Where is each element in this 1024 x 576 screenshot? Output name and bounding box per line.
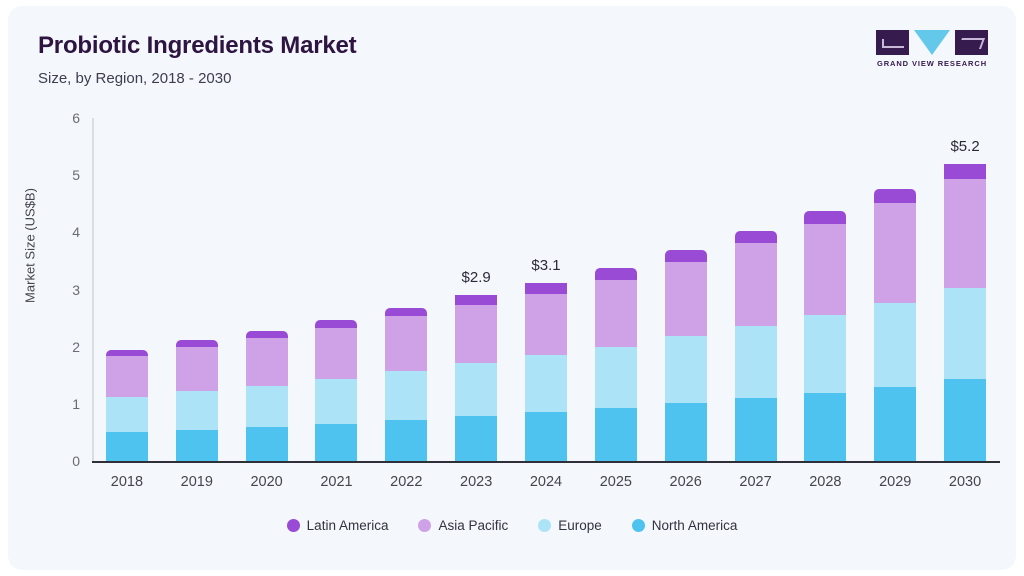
legend-item[interactable]: Latin America (287, 518, 389, 533)
bar-segment-europe[interactable] (595, 347, 637, 409)
bar-group[interactable] (385, 308, 427, 461)
bar-segment-latin-america[interactable] (665, 250, 707, 261)
bar-group[interactable] (246, 331, 288, 461)
bar-segment-north-america[interactable] (385, 420, 427, 461)
bar-segment-asia-pacific[interactable] (385, 316, 427, 371)
bar-group[interactable] (665, 250, 707, 461)
bar-segment-europe[interactable] (804, 315, 846, 393)
bar-value-label: $2.9 (462, 269, 491, 286)
legend-swatch-icon (538, 519, 551, 532)
x-axis-tick-label: 2021 (320, 474, 352, 490)
x-axis-tick-label: 2020 (250, 474, 282, 490)
bar-group[interactable] (804, 211, 846, 461)
x-axis-tick-label: 2029 (879, 474, 911, 490)
bar-segment-asia-pacific[interactable] (246, 338, 288, 385)
bar-segment-latin-america[interactable] (735, 231, 777, 243)
bar-segment-asia-pacific[interactable] (176, 347, 218, 391)
bar-group[interactable]: $5.2 (944, 164, 986, 461)
bar-group[interactable] (106, 350, 148, 461)
x-axis-tick-label: 2023 (460, 474, 492, 490)
bar-segment-latin-america[interactable] (804, 211, 846, 224)
bar-segment-north-america[interactable] (944, 379, 986, 461)
legend-item[interactable]: North America (632, 518, 738, 533)
y-axis-tick-label: 4 (54, 224, 80, 240)
legend-swatch-icon (287, 519, 300, 532)
y-axis-tick-label: 1 (54, 396, 80, 412)
y-axis-tick-label: 3 (54, 282, 80, 298)
bar-segment-latin-america[interactable] (595, 268, 637, 279)
bar-segment-north-america[interactable] (595, 408, 637, 461)
bar-segment-asia-pacific[interactable] (455, 305, 497, 363)
legend-label: North America (652, 518, 738, 533)
bar-segment-europe[interactable] (315, 379, 357, 424)
x-axis-tick-label: 2024 (530, 474, 562, 490)
y-axis-tick-label: 5 (54, 167, 80, 183)
x-axis-tick-label: 2018 (111, 474, 143, 490)
chart-plot-area: Market Size (US$B) 0123456 $2.9$3.1$5.2 … (8, 6, 1016, 570)
x-axis-tick-label: 2026 (670, 474, 702, 490)
bar-segment-europe[interactable] (385, 371, 427, 420)
bar-segment-north-america[interactable] (874, 387, 916, 461)
bar-group[interactable] (315, 320, 357, 461)
x-axis-tick-label: 2025 (600, 474, 632, 490)
bar-series-container: $2.9$3.1$5.2 (92, 118, 1000, 461)
bar-group[interactable] (874, 189, 916, 461)
bar-segment-europe[interactable] (665, 336, 707, 403)
bar-value-label: $3.1 (531, 257, 560, 274)
bar-group[interactable]: $2.9 (455, 295, 497, 461)
x-axis-tick-label: 2019 (181, 474, 213, 490)
chart-screenshot: Probiotic Ingredients Market Size, by Re… (0, 0, 1024, 576)
bar-segment-europe[interactable] (176, 391, 218, 429)
bar-segment-europe[interactable] (735, 326, 777, 398)
chart-legend: Latin AmericaAsia PacificEuropeNorth Ame… (8, 518, 1016, 533)
bar-segment-asia-pacific[interactable] (525, 294, 567, 356)
bar-segment-asia-pacific[interactable] (874, 203, 916, 303)
bar-segment-north-america[interactable] (804, 393, 846, 461)
bar-segment-europe[interactable] (106, 397, 148, 432)
legend-swatch-icon (418, 519, 431, 532)
legend-item[interactable]: Asia Pacific (418, 518, 508, 533)
legend-label: Europe (558, 518, 602, 533)
y-axis-tick-label: 2 (54, 339, 80, 355)
bar-segment-latin-america[interactable] (874, 189, 916, 203)
bar-segment-asia-pacific[interactable] (595, 280, 637, 347)
bar-segment-latin-america[interactable] (944, 164, 986, 179)
chart-panel: Probiotic Ingredients Market Size, by Re… (8, 6, 1016, 570)
bar-segment-north-america[interactable] (665, 403, 707, 461)
bar-segment-latin-america[interactable] (525, 283, 567, 293)
bar-segment-asia-pacific[interactable] (315, 328, 357, 379)
bar-value-label: $5.2 (950, 138, 979, 155)
x-axis-line (92, 461, 1000, 463)
bar-group[interactable]: $3.1 (525, 283, 567, 461)
bar-segment-europe[interactable] (246, 386, 288, 428)
bar-segment-north-america[interactable] (455, 416, 497, 461)
bar-segment-north-america[interactable] (106, 432, 148, 461)
bar-group[interactable] (735, 231, 777, 461)
bar-segment-latin-america[interactable] (315, 320, 357, 328)
bar-segment-north-america[interactable] (315, 424, 357, 461)
bar-segment-asia-pacific[interactable] (944, 179, 986, 289)
bar-segment-asia-pacific[interactable] (106, 356, 148, 397)
x-axis-tick-label: 2030 (949, 474, 981, 490)
bar-segment-europe[interactable] (455, 363, 497, 417)
bar-segment-north-america[interactable] (246, 427, 288, 461)
bar-segment-asia-pacific[interactable] (804, 224, 846, 315)
bar-segment-asia-pacific[interactable] (735, 243, 777, 326)
bar-segment-europe[interactable] (874, 303, 916, 388)
x-axis-tick-label: 2027 (739, 474, 771, 490)
y-axis-tick-label: 0 (54, 453, 80, 469)
bar-group[interactable] (176, 340, 218, 461)
bar-segment-latin-america[interactable] (176, 340, 218, 347)
legend-item[interactable]: Europe (538, 518, 602, 533)
bar-segment-europe[interactable] (944, 288, 986, 379)
bar-segment-latin-america[interactable] (385, 308, 427, 317)
bar-segment-latin-america[interactable] (246, 331, 288, 338)
bar-segment-latin-america[interactable] (455, 295, 497, 305)
x-axis-tick-label: 2028 (809, 474, 841, 490)
y-axis-title: Market Size (US$B) (23, 116, 38, 376)
bar-segment-north-america[interactable] (735, 398, 777, 461)
legend-label: Asia Pacific (438, 518, 508, 533)
bar-group[interactable] (595, 268, 637, 461)
x-axis-tick-label: 2022 (390, 474, 422, 490)
legend-swatch-icon (632, 519, 645, 532)
bar-segment-north-america[interactable] (525, 412, 567, 461)
bar-segment-europe[interactable] (525, 355, 567, 412)
legend-label: Latin America (307, 518, 389, 533)
bar-segment-asia-pacific[interactable] (665, 262, 707, 337)
y-axis-tick-label: 6 (54, 110, 80, 126)
bar-segment-north-america[interactable] (176, 430, 218, 461)
